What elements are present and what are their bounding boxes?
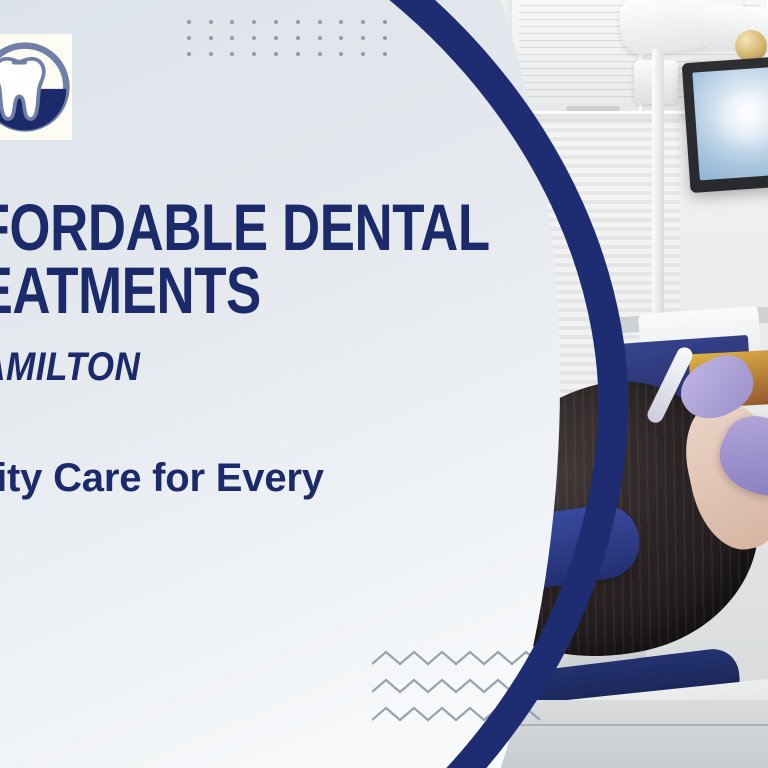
grid-dot	[383, 36, 387, 40]
subheadline: IN HAMILTON	[0, 345, 436, 390]
grid-dot	[296, 20, 300, 24]
grid-dot	[383, 20, 387, 24]
grid-dot	[252, 36, 256, 40]
grid-dot	[296, 36, 300, 40]
dental-promo-banner: AFFORDABLE DENTAL TREATMENTS IN HAMILTON…	[0, 0, 768, 768]
grid-dot	[361, 52, 365, 56]
grid-dot	[296, 52, 300, 56]
headline-line-2: TREATMENTS	[0, 259, 388, 322]
grid-dot	[187, 52, 191, 56]
grid-dot	[339, 36, 343, 40]
grid-dot	[274, 20, 278, 24]
grid-dot	[252, 20, 256, 24]
grid-dot	[187, 36, 191, 40]
grid-dot	[230, 52, 234, 56]
dot-grid-pattern	[178, 14, 396, 62]
grid-dot	[209, 52, 213, 56]
grid-dot	[318, 52, 322, 56]
grid-dot	[318, 36, 322, 40]
grid-dot	[339, 52, 343, 56]
xray-monitor	[682, 53, 768, 193]
headline: AFFORDABLE DENTAL TREATMENTS	[0, 196, 388, 323]
grid-dot	[274, 36, 278, 40]
tooth-icon	[0, 40, 72, 134]
grid-dot	[361, 36, 365, 40]
headline-block: AFFORDABLE DENTAL TREATMENTS IN HAMILTON…	[0, 196, 508, 501]
grid-dot	[209, 20, 213, 24]
grid-dot	[187, 20, 191, 24]
cabinet-handle	[566, 106, 620, 111]
grid-dot	[339, 20, 343, 24]
grid-dot	[209, 36, 213, 40]
grid-dot	[230, 20, 234, 24]
monitor-screen	[692, 64, 768, 181]
tooth-in-circle-logo[interactable]	[0, 34, 72, 140]
grid-dot	[361, 20, 365, 24]
grid-dot	[383, 52, 387, 56]
tagline: Quality Care for Every	[0, 456, 508, 501]
grid-dot	[274, 52, 278, 56]
grid-dot	[318, 20, 322, 24]
grid-dot	[230, 36, 234, 40]
grid-dot	[252, 52, 256, 56]
